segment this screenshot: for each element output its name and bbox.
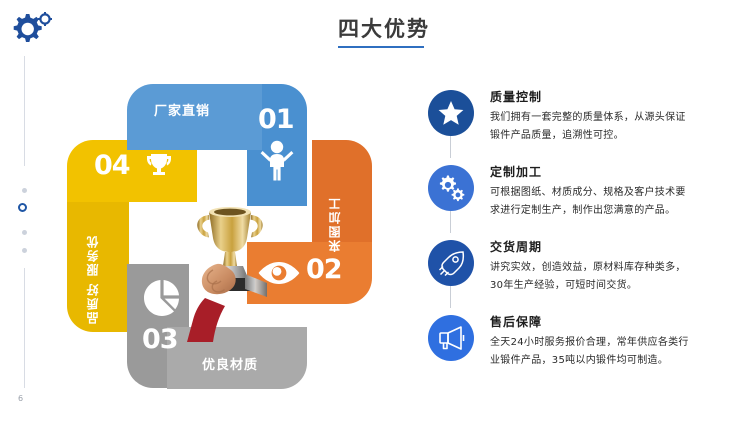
feature-heading: 售后保障 <box>490 313 743 330</box>
feature-text-line2: 30年生产经验，可短时间交货。 <box>490 277 743 295</box>
segment-label-03: 优良材质 <box>202 354 258 373</box>
hand-holding-trophy-photo <box>187 202 292 342</box>
gear-icon <box>8 8 56 50</box>
megaphone-icon <box>428 315 474 361</box>
rail-dot[interactable] <box>22 230 27 235</box>
feature-text-line1: 讲究实效，创造效益，原材料库存种类多， <box>490 259 743 277</box>
segment-number-02: 02 <box>306 254 342 285</box>
feature-text-line2: 业锻件产品，35吨以内锻件均可制造。 <box>490 352 743 370</box>
active-slide-dot[interactable] <box>18 203 27 212</box>
segment-number-04: 04 <box>94 150 130 181</box>
pie-chart-icon <box>142 278 182 318</box>
feature-item-delivery: 交货周期 讲究实效，创造效益，原材料库存种类多， 30年生产经验，可短时间交货。 <box>428 238 743 313</box>
page-title-block: 四大优势 <box>338 18 538 48</box>
feature-connector <box>450 211 451 233</box>
title-underline <box>338 46 424 48</box>
feature-item-quality: 质量控制 我们拥有一套完整的质量体系，从源头保证 锻件产品质量，追溯性可控。 <box>428 88 743 163</box>
rail-line-lower <box>24 268 25 388</box>
feature-connector <box>450 136 451 158</box>
feature-connector <box>450 286 451 308</box>
feature-item-custom: 定制加工 可根据图纸、材质成分、规格及客户技术要 求进行定制生产，制作出您满意的… <box>428 163 743 238</box>
person-raising-arms-icon <box>260 140 294 182</box>
feature-text-line1: 全天24小时服务报价合理，常年供应各类行 <box>490 334 743 352</box>
feature-text-line2: 求进行定制生产，制作出您满意的产品。 <box>490 202 743 220</box>
page-number: 6 <box>18 394 23 403</box>
segment-number-01: 01 <box>258 104 294 135</box>
rail-line-upper <box>24 56 25 166</box>
feature-heading: 交货周期 <box>490 238 743 255</box>
feature-text-line2: 锻件产品质量，追溯性可控。 <box>490 127 743 145</box>
pinwheel-diagram: 04 品质好 服务优 厂家直销 01 来图加工 02 <box>62 82 412 412</box>
segment-number-03: 03 <box>142 324 178 355</box>
feature-text-line1: 可根据图纸、材质成分、规格及客户技术要 <box>490 184 743 202</box>
feature-text-line1: 我们拥有一套完整的质量体系，从源头保证 <box>490 109 743 127</box>
left-navigation-rail: 6 <box>0 0 60 421</box>
star-icon <box>428 90 474 136</box>
segment-label-02: 来图加工 <box>326 160 343 252</box>
page-title: 四大优势 <box>338 18 538 41</box>
feature-heading: 定制加工 <box>490 163 743 180</box>
feature-heading: 质量控制 <box>490 88 743 105</box>
gears-icon <box>428 165 474 211</box>
rail-dot[interactable] <box>22 188 27 193</box>
segment-label-01: 厂家直销 <box>154 100 210 119</box>
trophy-icon <box>144 152 174 180</box>
rocket-icon <box>428 240 474 286</box>
rail-dot[interactable] <box>22 248 27 253</box>
segment-label-04: 品质好 服务优 <box>84 232 101 324</box>
feature-item-aftersales: 售后保障 全天24小时服务报价合理，常年供应各类行 业锻件产品，35吨以内锻件均… <box>428 313 743 388</box>
features-list: 质量控制 我们拥有一套完整的质量体系，从源头保证 锻件产品质量，追溯性可控。 定… <box>428 88 743 388</box>
slide-canvas: 6 四大优势 04 品质好 服务优 厂家直销 01 来图加工 <box>0 0 750 421</box>
